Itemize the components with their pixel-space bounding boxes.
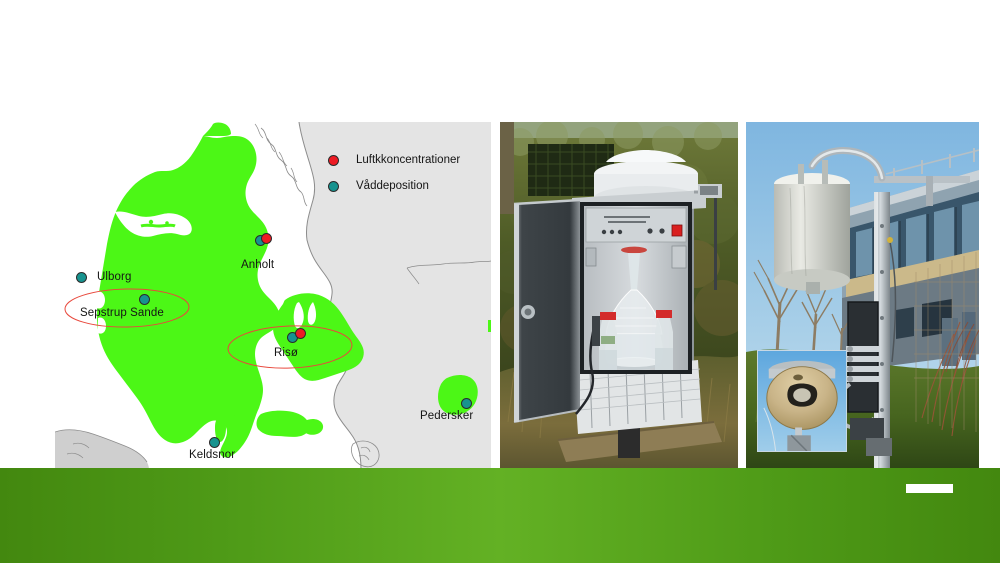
station-marker-keldsnor-wet: [209, 437, 220, 448]
station-label-keldsnor: Keldsnor: [189, 449, 235, 461]
station-label-anholt: Anholt: [241, 259, 274, 271]
station-marker-sepstrup-sande-wet: [139, 294, 150, 305]
station-marker-anholt-air: [261, 233, 272, 244]
photo-air-sampler: [746, 122, 979, 469]
station-marker-risoe-air: [295, 328, 306, 339]
bottom-green-banner: [0, 468, 1000, 563]
legend-label-air-concentration: Luftkkoncentrationer: [356, 154, 460, 166]
teal-circle-marker-icon: [328, 181, 339, 192]
legend-item-wet-deposition: Våddeposition: [328, 173, 460, 199]
slide-number-placeholder: [906, 484, 953, 493]
slide-canvas: Luftkkoncentrationer Våddeposition Ulbor…: [0, 0, 1000, 563]
station-label-risoe: Risø: [274, 347, 298, 359]
legend-label-wet-deposition: Våddeposition: [356, 180, 429, 192]
map-legend: Luftkkoncentrationer Våddeposition: [328, 147, 460, 199]
station-marker-ulborg-wet: [76, 272, 87, 283]
station-marker-pedersker-wet: [461, 398, 472, 409]
station-label-pedersker: Pedersker: [420, 410, 473, 422]
precipitation-collector-photo-graphic: [500, 122, 738, 469]
filter-inlet-closeup-graphic: [758, 351, 846, 451]
station-label-sepstrup-sande: Sepstrup Sande: [80, 307, 164, 319]
red-circle-marker-icon: [328, 155, 339, 166]
station-label-ulborg: Ulborg: [97, 271, 131, 283]
denmark-monitoring-station-map: Luftkkoncentrationer Våddeposition Ulbor…: [55, 122, 491, 469]
photo-precipitation-collector: [500, 122, 738, 469]
legend-item-air-concentration: Luftkkoncentrationer: [328, 147, 460, 173]
inset-filter-inlet-closeup: [757, 350, 847, 452]
